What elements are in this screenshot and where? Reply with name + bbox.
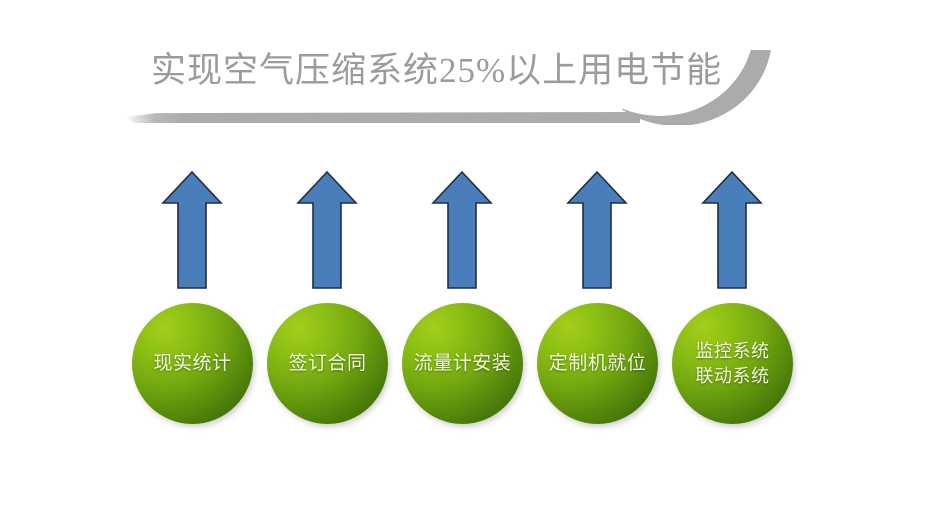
process-node-label: 定制机就位 bbox=[549, 351, 647, 377]
title-banner: 实现空气压缩系统25%以上用电节能 bbox=[125, 34, 785, 144]
slide-canvas: 实现空气压缩系统25%以上用电节能 现实统计 签订合同 流量计安装 定制机 bbox=[0, 0, 945, 529]
up-arrow-2 bbox=[296, 170, 358, 290]
arrow-shape bbox=[163, 172, 221, 288]
arrow-shape bbox=[568, 172, 626, 288]
process-node-label: 现实统计 bbox=[153, 351, 231, 377]
page-title: 实现空气压缩系统25%以上用电节能 bbox=[151, 48, 751, 94]
process-node-label: 监控系统 联动系统 bbox=[696, 339, 770, 389]
process-node-label: 流量计安装 bbox=[414, 351, 512, 377]
up-arrow-5 bbox=[701, 170, 763, 290]
arrow-shape bbox=[703, 172, 761, 288]
up-arrow-4 bbox=[566, 170, 628, 290]
process-node-2[interactable]: 签订合同 bbox=[267, 303, 388, 424]
process-node-5[interactable]: 监控系统 联动系统 bbox=[672, 303, 793, 424]
process-node-1[interactable]: 现实统计 bbox=[132, 303, 253, 424]
arrow-shape bbox=[433, 172, 491, 288]
up-arrow-3 bbox=[431, 170, 493, 290]
process-node-4[interactable]: 定制机就位 bbox=[537, 303, 658, 424]
title-underline-decoration bbox=[125, 112, 640, 123]
process-node-3[interactable]: 流量计安装 bbox=[402, 303, 523, 424]
arrow-shape bbox=[298, 172, 356, 288]
up-arrow-1 bbox=[161, 170, 223, 290]
process-node-label: 签订合同 bbox=[288, 351, 366, 377]
